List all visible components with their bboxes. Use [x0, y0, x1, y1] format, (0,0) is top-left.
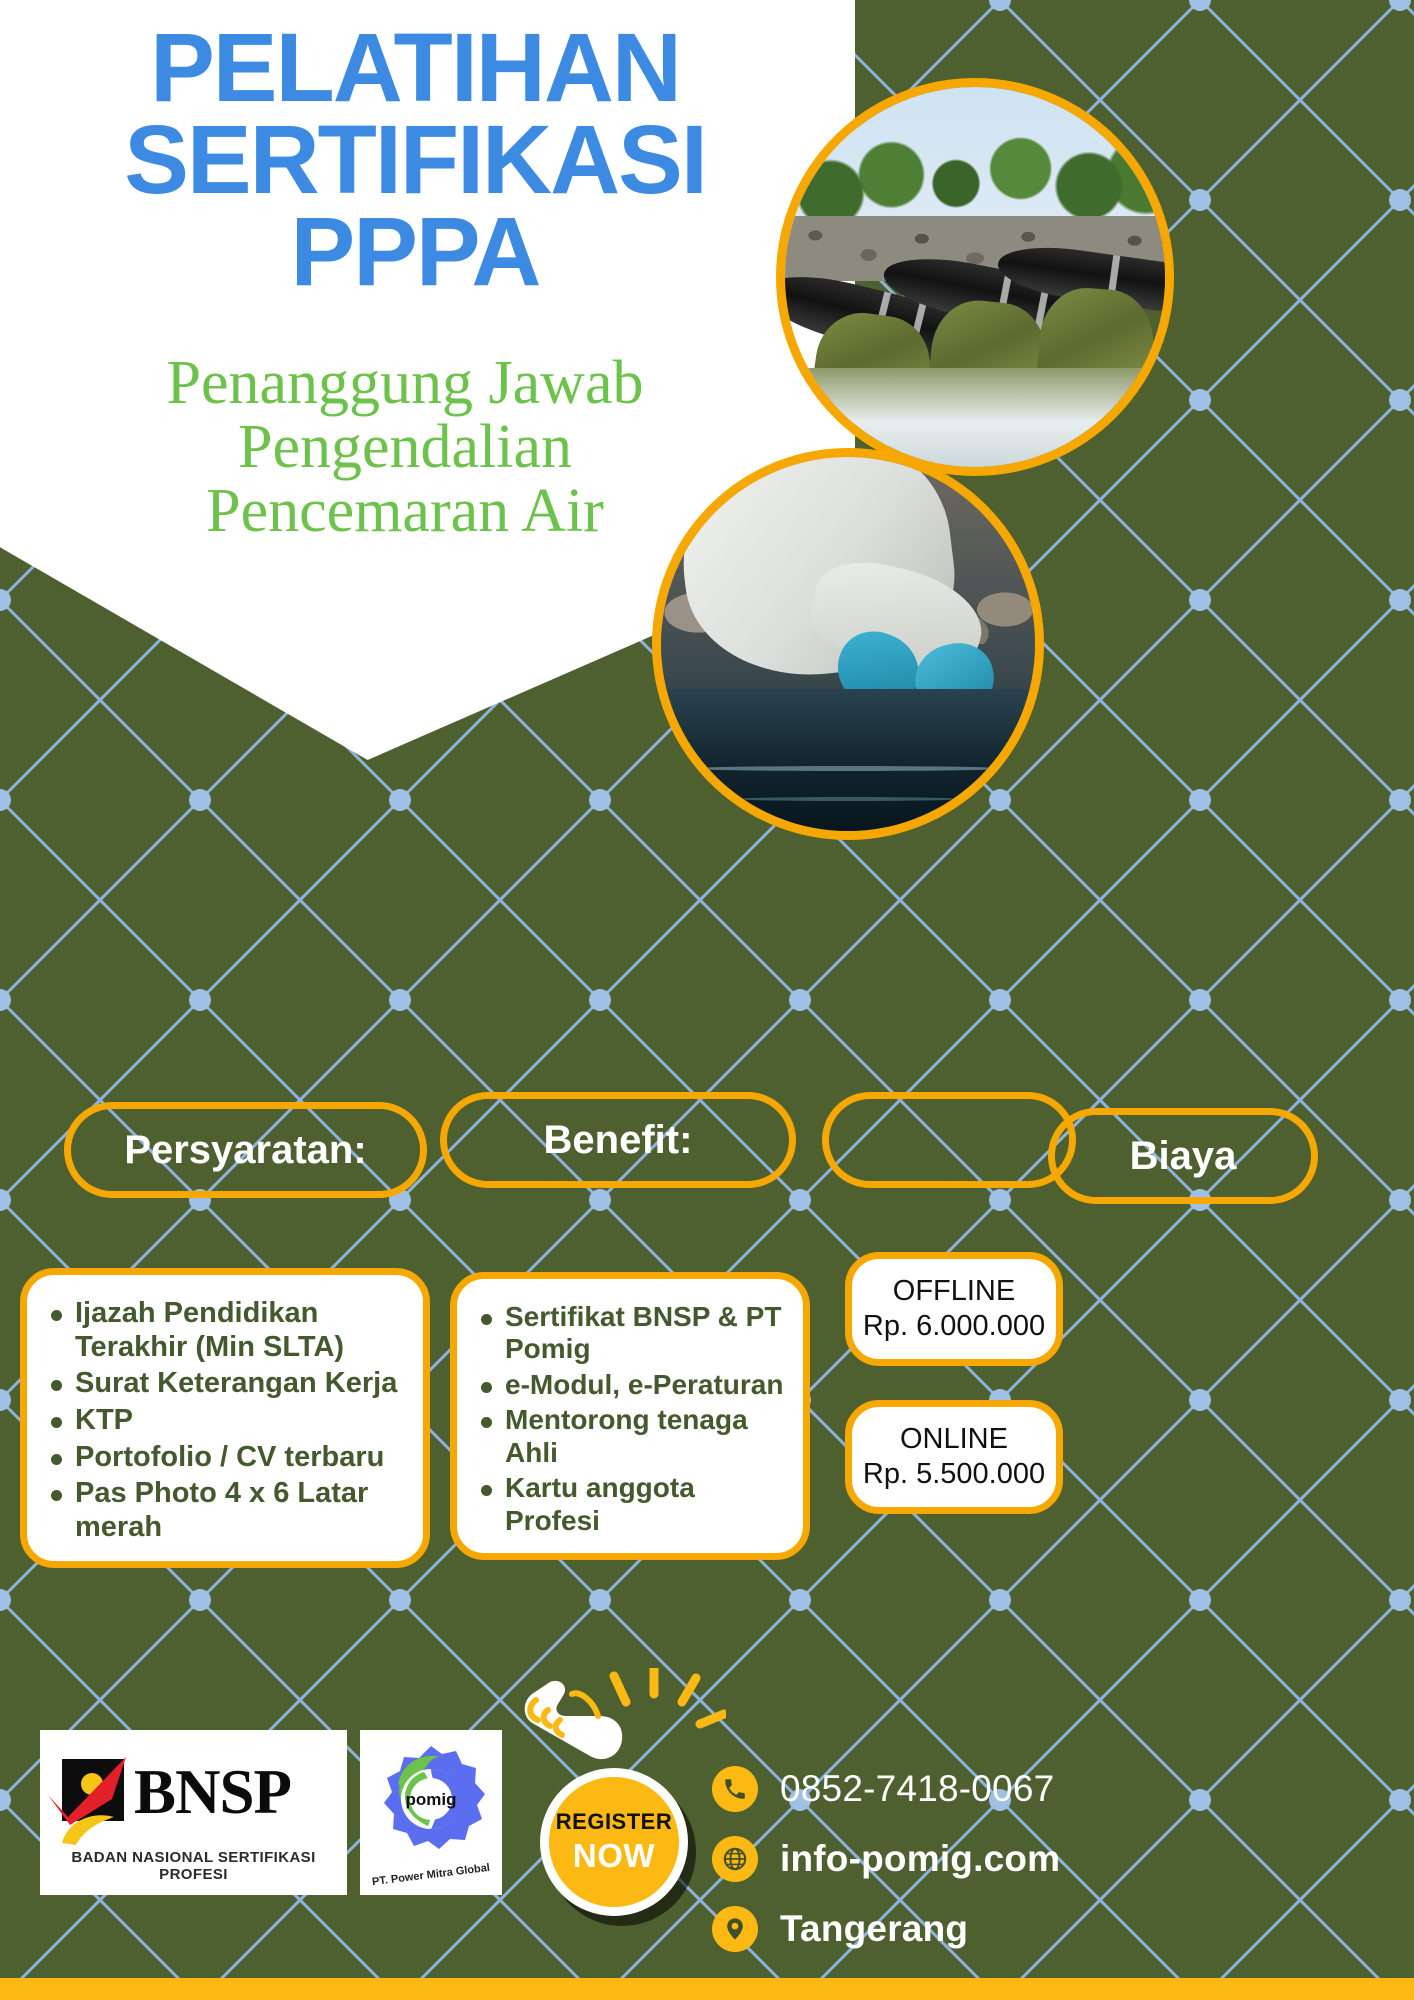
benefits-list: Sertifikat BNSP & PT Pomig e-Modul, e-Pe…	[457, 1279, 803, 1550]
section-header-benefits: Benefit:	[440, 1092, 796, 1188]
poster-root: PELATIHAN SERTIFIKASI PPPA Penanggung Ja…	[0, 0, 1414, 2000]
register-label-secondary: NOW	[573, 1837, 655, 1875]
page-title: PELATIHAN SERTIFIKASI PPPA	[0, 22, 830, 298]
water-sampling-technician-photo	[652, 448, 1044, 840]
list-item: Mentorong tenaga Ahli	[475, 1404, 787, 1469]
bnsp-tagline: BADAN NASIONAL SERTIFIKASI PROFESI	[40, 1849, 347, 1889]
list-item: e-Modul, e-Peraturan	[475, 1369, 787, 1401]
bnsp-mark-icon	[50, 1753, 130, 1833]
register-label-primary: REGISTER	[556, 1809, 672, 1835]
headline-line-1: PELATIHAN	[0, 22, 830, 114]
list-item: Pas Photo 4 x 6 Latar merah	[45, 1477, 407, 1544]
requirements-heading-label: Persyaratan:	[124, 1128, 366, 1173]
benefits-heading-label: Benefit:	[544, 1118, 693, 1163]
list-item: Portofolio / CV terbaru	[45, 1441, 407, 1475]
price-amount-label: Rp. 6.000.000	[863, 1309, 1045, 1344]
price-mode-label: ONLINE	[900, 1422, 1008, 1457]
section-header-pricing: Biaya	[1048, 1108, 1318, 1204]
requirements-list: Ijazah Pendidikan Terakhir (Min SLTA) Su…	[27, 1275, 423, 1557]
contact-row-website[interactable]: info-pomig.com	[712, 1828, 1060, 1890]
headline-line-2: SERTIFIKASI	[0, 114, 830, 206]
list-item: Ijazah Pendidikan Terakhir (Min SLTA)	[45, 1297, 407, 1364]
bnsp-logo: BNSP BADAN NASIONAL SERTIFIKASI PROFESI	[40, 1730, 347, 1895]
globe-icon	[712, 1836, 758, 1882]
pointing-hand-icon	[520, 1676, 650, 1806]
list-item: Kartu anggota Profesi	[475, 1472, 787, 1537]
price-card-online: ONLINE Rp. 5.500.000	[845, 1400, 1063, 1514]
list-item: Surat Keterangan Kerja	[45, 1367, 407, 1401]
bnsp-wordmark: BNSP	[134, 1756, 291, 1829]
list-item: Sertifikat BNSP & PT Pomig	[475, 1301, 787, 1366]
section-header-requirements: Persyaratan:	[64, 1102, 427, 1198]
contact-value-phone: 0852-7418-0067	[780, 1768, 1054, 1810]
benefits-card: Sertifikat BNSP & PT Pomig e-Modul, e-Pe…	[450, 1272, 810, 1560]
subtitle-line-1: Penanggung Jawab	[10, 352, 800, 416]
contact-row-phone[interactable]: 0852-7418-0067	[712, 1758, 1060, 1820]
price-mode-label: OFFLINE	[893, 1274, 1015, 1309]
price-card-offline: OFFLINE Rp. 6.000.000	[845, 1252, 1063, 1366]
price-amount-label: Rp. 5.500.000	[863, 1457, 1045, 1492]
pomig-gear-icon: pomig	[374, 1742, 488, 1856]
bottom-accent-strip	[0, 1978, 1414, 2000]
location-pin-icon	[712, 1906, 758, 1952]
svg-text:pomig: pomig	[406, 1790, 457, 1809]
requirements-card: Ijazah Pendidikan Terakhir (Min SLTA) Su…	[20, 1268, 430, 1568]
headline-line-3: PPPA	[0, 206, 830, 298]
phone-icon	[712, 1766, 758, 1812]
pomig-tagline: PT. Power Mitra Global	[360, 1860, 502, 1889]
contact-value-location: Tangerang	[780, 1908, 968, 1950]
contact-row-location[interactable]: Tangerang	[712, 1898, 1060, 1960]
contact-list: 0852-7418-0067 info-pomig.com	[712, 1758, 1060, 1968]
section-header-pricing-left-cap	[822, 1092, 1076, 1188]
pricing-heading-label: Biaya	[1130, 1134, 1237, 1179]
pomig-logo: pomig PT. Power Mitra Global	[360, 1730, 502, 1895]
list-item: KTP	[45, 1404, 407, 1438]
water-discharge-pipes-photo	[776, 78, 1174, 476]
contact-value-website: info-pomig.com	[780, 1838, 1060, 1880]
